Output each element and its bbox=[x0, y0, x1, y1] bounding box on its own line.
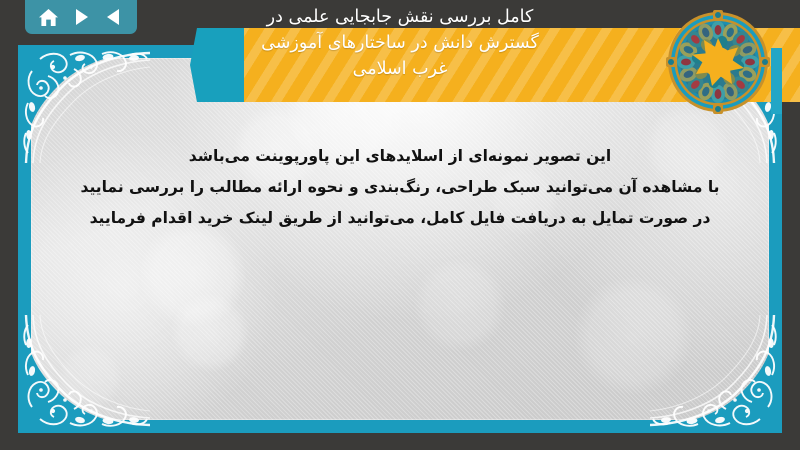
slide-background-texture bbox=[18, 45, 782, 433]
bokeh-circle bbox=[58, 345, 122, 409]
bokeh-circle bbox=[574, 277, 692, 395]
body-line-3: در صورت تمایل به دریافت فایل کامل، می‌تو… bbox=[58, 203, 742, 234]
slide-navigation-bar bbox=[25, 0, 137, 34]
previous-slide-button[interactable] bbox=[100, 4, 128, 30]
slide-body-text: این تصویر نمونه‌ای از اسلایدهای این پاور… bbox=[58, 141, 742, 234]
home-icon bbox=[38, 8, 59, 27]
body-line-2: با مشاهده آن می‌توانید سبک طراحی، رنگ‌بن… bbox=[58, 172, 742, 203]
slide-decorative-frame bbox=[18, 45, 782, 433]
bokeh-circle bbox=[171, 294, 249, 372]
triangle-right-icon bbox=[73, 8, 90, 26]
triangle-left-icon bbox=[105, 8, 122, 26]
banner-chevron-pattern bbox=[244, 28, 800, 102]
banner-arrow-shape bbox=[190, 28, 248, 102]
slide-canvas: این تصویر نمونه‌ای از اسلایدهای این پاور… bbox=[18, 45, 782, 433]
home-button[interactable] bbox=[34, 4, 62, 30]
next-slide-button[interactable] bbox=[67, 4, 95, 30]
banner-gold-body bbox=[244, 28, 800, 102]
right-edge-accent-bar bbox=[771, 48, 782, 114]
corner-arabesque-ornament bbox=[650, 315, 782, 433]
slide-title-banner bbox=[190, 28, 800, 102]
slide-frame-inner-line bbox=[31, 58, 769, 420]
bokeh-circle bbox=[414, 259, 506, 351]
corner-arabesque-ornament bbox=[18, 315, 150, 433]
body-line-1: این تصویر نمونه‌ای از اسلایدهای این پاور… bbox=[58, 141, 742, 172]
slide-viewer: این تصویر نمونه‌ای از اسلایدهای این پاور… bbox=[0, 0, 800, 450]
bokeh-circle bbox=[140, 221, 246, 327]
